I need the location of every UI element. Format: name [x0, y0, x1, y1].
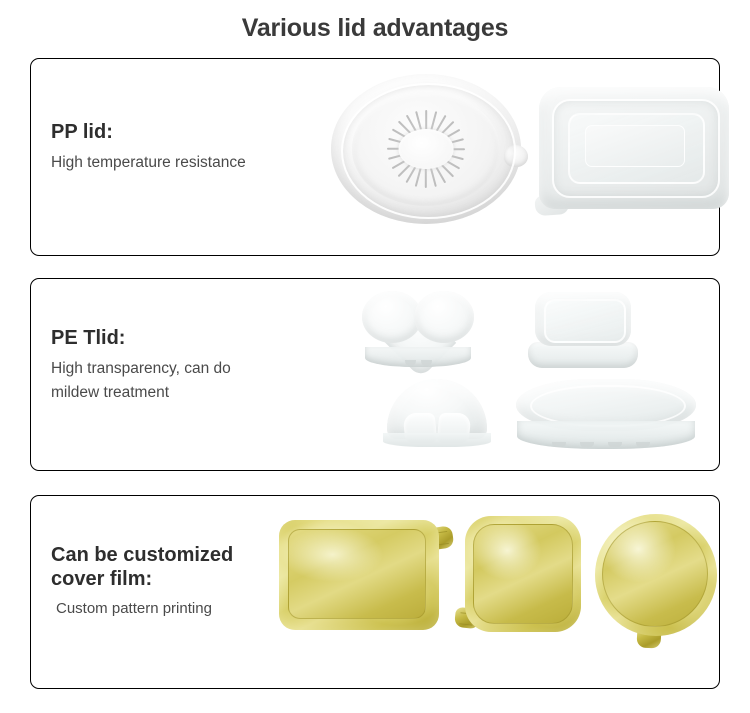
lid-panel [473, 524, 573, 624]
lid-flange [365, 347, 471, 367]
heart-lobe-right [414, 291, 474, 343]
round-dome-pe-lid-image [383, 379, 491, 447]
lid-ridge-inner [585, 125, 686, 167]
rectangular-gold-film-lid-image [279, 520, 439, 630]
square-dome-pe-lid-image [528, 292, 638, 368]
panel-pp-heading: PP lid: [51, 121, 246, 145]
round-pp-lid-image [331, 74, 521, 224]
panel-pp-text: PP lid: High temperature resistance [51, 121, 246, 175]
panel-pp-body: High temperature resistance [51, 151, 246, 175]
round-gold-film-lid-image [595, 514, 717, 636]
panel-pp-lid: PP lid: High temperature resistance [30, 58, 720, 256]
rectangular-pp-lid-image [539, 87, 729, 209]
panel-cover-film: Can be customized cover film: Custom pat… [30, 495, 720, 689]
heart-lobe-left [362, 291, 422, 343]
lid-notch [608, 442, 622, 447]
panel-cover-film-body: Custom pattern printing [51, 597, 233, 620]
page-title: Various lid advantages [0, 0, 750, 45]
lid-flange [383, 433, 491, 447]
lid-dome-inset [544, 299, 626, 343]
lid-rib-field [352, 92, 500, 206]
heart-pe-lid-image [361, 291, 475, 367]
panel-pe-body: High transparency, can do mildew treatme… [51, 357, 231, 405]
lid-flange [517, 421, 695, 449]
lid-notch [636, 442, 650, 447]
panel-pe-lid: PE Tlid: High transparency, can do milde… [30, 278, 720, 471]
panel-pe-text: PE Tlid: High transparency, can do milde… [51, 327, 231, 405]
lid-notch [580, 442, 594, 447]
lid-notch [552, 442, 566, 447]
panel-cover-film-heading: Can be customized cover film: [51, 544, 233, 591]
lid-panel [602, 521, 708, 627]
lid-panel [288, 529, 426, 619]
lid-center-hub [399, 129, 454, 169]
panel-pe-heading: PE Tlid: [51, 327, 231, 351]
panel-cover-film-text: Can be customized cover film: Custom pat… [51, 544, 233, 620]
square-gold-film-lid-image [465, 516, 581, 632]
oval-pe-lid-image [516, 379, 696, 449]
